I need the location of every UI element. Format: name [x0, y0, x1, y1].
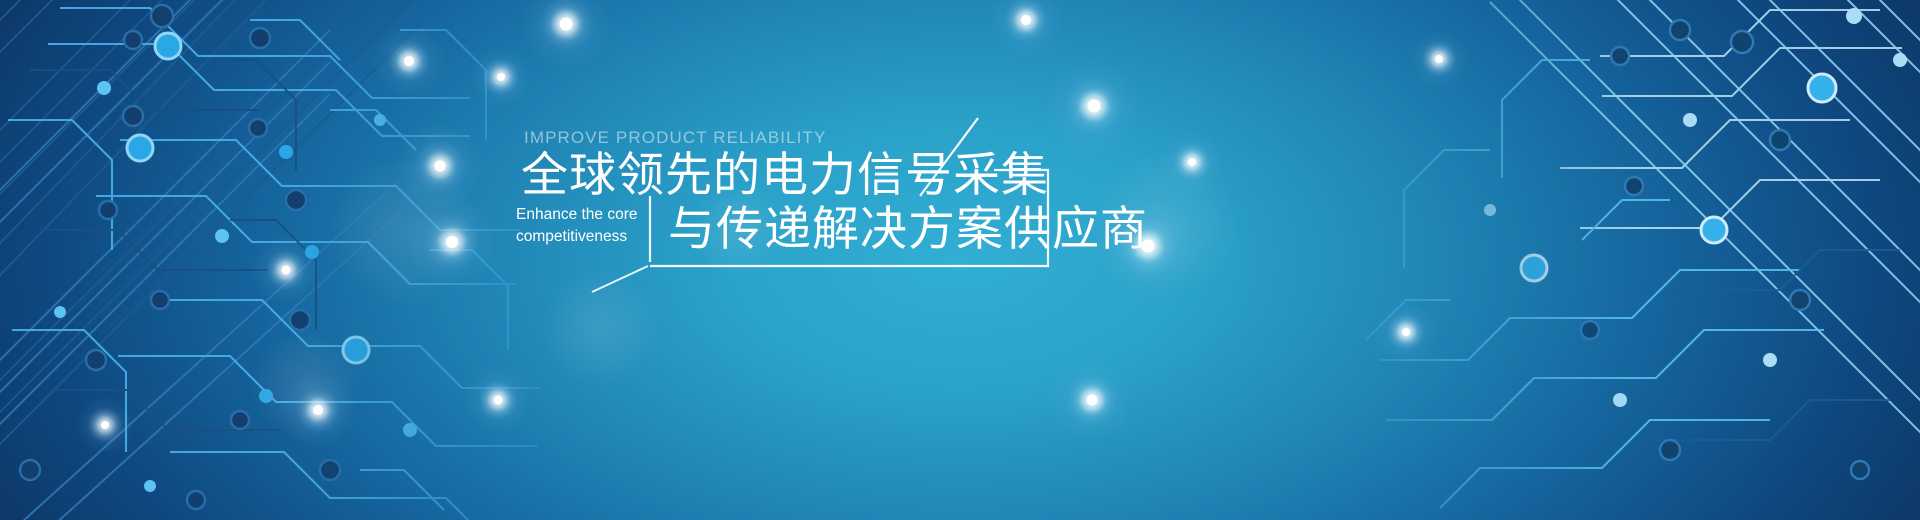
banner-eyebrow: IMPROVE PRODUCT RELIABILITY	[524, 128, 826, 148]
hero-banner: IMPROVE PRODUCT RELIABILITY 全球领先的电力信号采集 …	[0, 0, 1920, 520]
banner-headline-line2: 与传递解决方案供应商	[668, 202, 1148, 256]
banner-text-block: IMPROVE PRODUCT RELIABILITY 全球领先的电力信号采集 …	[0, 0, 1920, 520]
banner-caption: Enhance the core competitiveness	[516, 204, 651, 248]
banner-headline-line1: 全球领先的电力信号采集	[521, 148, 1049, 202]
